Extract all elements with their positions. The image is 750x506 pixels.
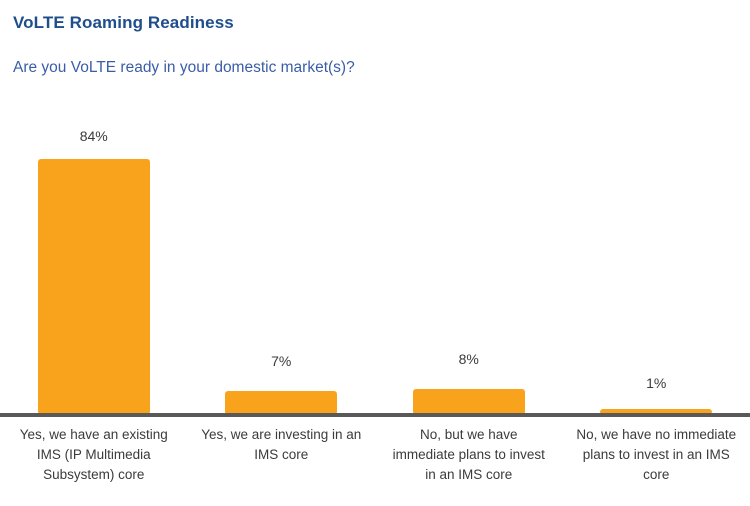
page-title: VoLTE Roaming Readiness xyxy=(13,12,733,34)
x-tick-label-0-line-1: IMS (IP Multimedia xyxy=(0,445,188,465)
x-tick-label-3-line-1: plans to invest in an IMS xyxy=(563,445,750,465)
plot-area: 84% 7% 8% 1% xyxy=(0,118,750,417)
bar-2[interactable] xyxy=(413,389,525,413)
x-tick-label-1-line-1: IMS core xyxy=(188,445,376,465)
bar-group-2: 8% xyxy=(375,118,563,413)
chart-container: VoLTE Roaming Readiness Are you VoLTE re… xyxy=(0,0,750,506)
x-tick-label-2: No, but we have immediate plans to inves… xyxy=(375,425,563,485)
x-axis-labels: Yes, we have an existing IMS (IP Multime… xyxy=(0,425,750,506)
bar-value-label-1: 7% xyxy=(271,353,291,369)
bar-value-label-0: 84% xyxy=(80,128,108,144)
bars-layer: 84% 7% 8% 1% xyxy=(0,118,750,413)
x-tick-label-3: No, we have no immediate plans to invest… xyxy=(563,425,750,485)
x-tick-label-0-line-0: Yes, we have an existing xyxy=(0,425,188,445)
x-tick-label-2-line-2: in an IMS core xyxy=(375,465,563,485)
bar-1[interactable] xyxy=(225,391,337,413)
x-tick-label-3-line-2: core xyxy=(563,465,750,485)
x-tick-label-1: Yes, we are investing in an IMS core xyxy=(188,425,376,465)
bar-value-label-2: 8% xyxy=(459,351,479,367)
x-tick-label-2-line-1: immediate plans to invest xyxy=(375,445,563,465)
chart-subtitle: Are you VoLTE ready in your domestic mar… xyxy=(13,34,733,78)
x-tick-label-1-line-0: Yes, we are investing in an xyxy=(188,425,376,445)
x-axis-line xyxy=(0,413,750,417)
chart-header: VoLTE Roaming Readiness Are you VoLTE re… xyxy=(13,12,733,78)
x-tick-label-3-line-0: No, we have no immediate xyxy=(563,425,750,445)
x-tick-label-0: Yes, we have an existing IMS (IP Multime… xyxy=(0,425,188,485)
bar-value-label-3: 1% xyxy=(646,375,666,391)
x-tick-label-0-line-2: Subsystem) core xyxy=(0,465,188,485)
bar-group-1: 7% xyxy=(188,118,376,413)
bar-group-0: 84% xyxy=(0,118,188,413)
bar-0[interactable] xyxy=(38,159,150,413)
bar-group-3: 1% xyxy=(563,118,750,413)
x-tick-label-2-line-0: No, but we have xyxy=(375,425,563,445)
